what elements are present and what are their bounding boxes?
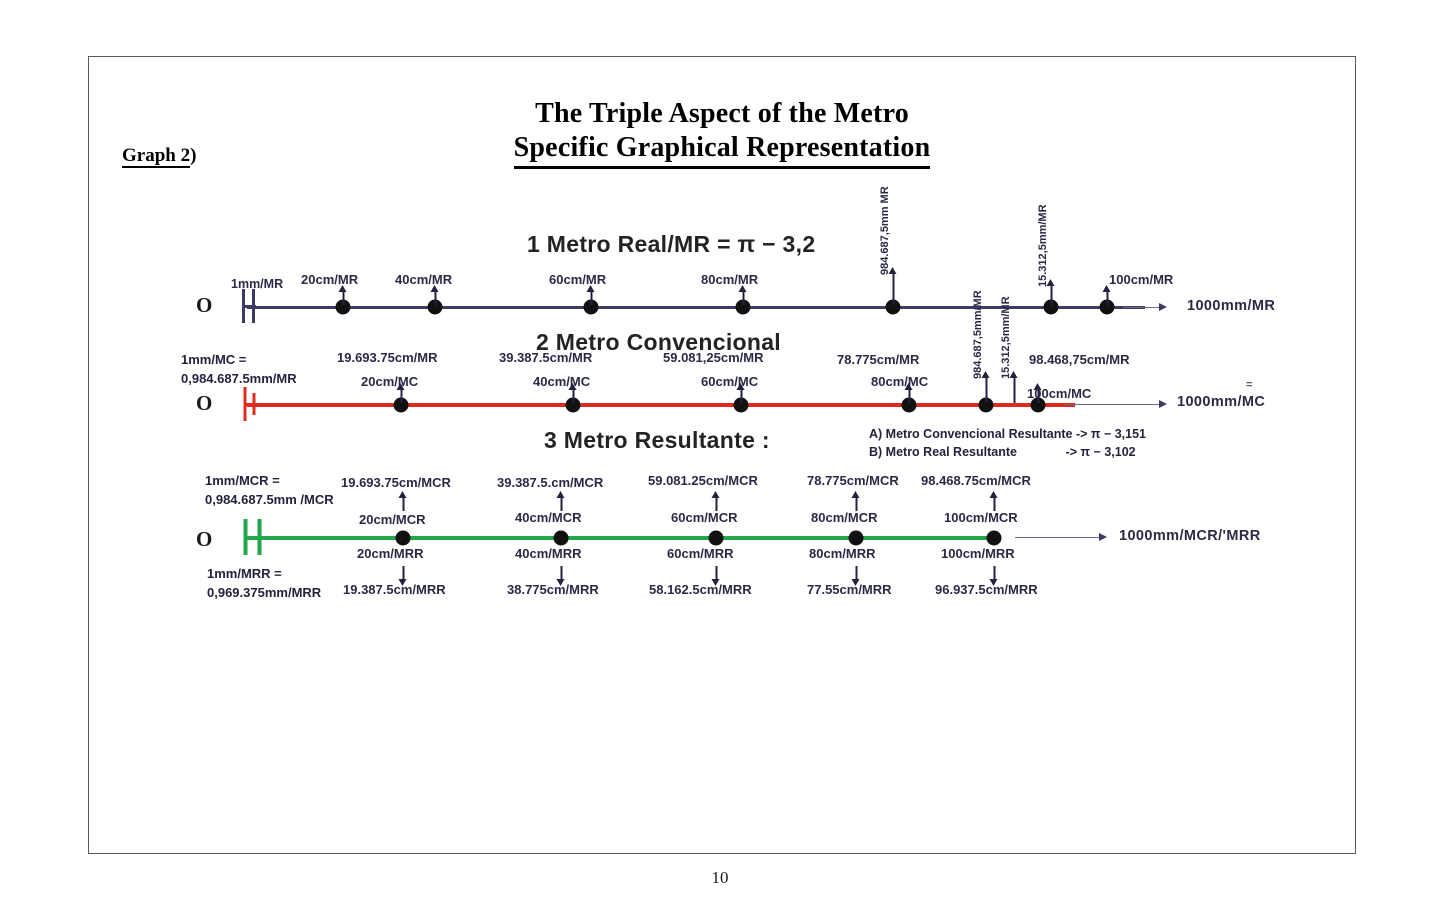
tick-label-mcr-top-1: 39.387.5.cm/MCR [497,475,603,490]
section-heading-metro-real: 1 Metro Real/MR = π − 3,2 [527,231,815,258]
tick-label-mcr-top-2: 59.081.25cm/MCR [648,473,758,488]
document-page: The Triple Aspect of the Metro Specific … [88,56,1356,854]
tick-arrow-mcr-20cm [399,491,408,511]
axis-end-arrow-mc [1065,400,1167,409]
vertical-label-mc-984687: 984.687,5mm/MR [972,290,984,379]
tick-arrow-mr-20cm [339,285,348,305]
tick-label-mcr-mid-2: 60cm/MCR [671,510,737,525]
data-point-mcr-20cm [396,531,411,546]
graph-label-tail: ) [190,145,196,166]
tick-arrow-mr-40cm [431,285,440,305]
tick-label-mcr-mid-4: 100cm/MCR [944,510,1018,525]
tick-label-mrr-val-4: 96.937.5cm/MRR [935,582,1038,597]
axis-line-metro-resultante [247,536,995,540]
tick-label-mc-bot-1: 40cm/MC [533,374,590,389]
data-point-mcr-60cm [709,531,724,546]
page-title: The Triple Aspect of the Metro Specific … [89,97,1355,169]
end-label-mcr: 1000mm/MCR/'MRR [1119,528,1261,544]
tick-label-mrr-3: 80cm/MRR [809,546,875,561]
data-point-mcr-100cm [987,531,1002,546]
graph-label-underlined: Graph 2 [122,145,190,168]
metro-resultante-notes: A) Metro Convencional Resultante -> π − … [869,425,1146,461]
tick-label-mcr-top-4: 98.468.75cm/MCR [921,473,1031,488]
tick-label-mc-bot-0: 20cm/MC [361,374,418,389]
tick-label-mr-2: 60cm/MR [549,272,606,287]
tick-label-mc-top-2: 59.081,25cm/MR [663,350,763,365]
section-heading-metro-resultante: 3 Metro Resultante : [544,427,770,454]
tick-label-mcr-mid-1: 40cm/MCR [515,510,581,525]
tick-arrow-mr-100cm [1103,285,1112,305]
tick-label-mc-top-0: 19.693.75cm/MR [337,350,437,365]
origin-note-mcr-bottom: 1mm/MRR = 0,969.375mm/MRR [207,565,321,603]
axis-end-arrow-mcr [1015,533,1107,542]
tick-label-mrr-2: 60cm/MRR [667,546,733,561]
title-line-2: Specific Graphical Representation [514,131,931,169]
end-label-mc: 1000mm/MC [1177,394,1265,410]
tick-label-mcr-top-3: 78.775cm/MCR [807,473,899,488]
tick-label-mrr-val-1: 38.775cm/MRR [507,582,599,597]
tick-arrow-mr-60cm [587,285,596,305]
vertical-label-mr-984687: 984.687,5mm MR [879,186,891,275]
origin-symbol-mc: O [196,391,212,416]
origin-symbol-mcr: O [196,527,212,552]
tick-label-mrr-4: 100cm/MRR [941,546,1015,561]
tick-label-mrr-val-3: 77.55cm/MRR [807,582,892,597]
tick-label-mcr-mid-0: 20cm/MCR [359,512,425,527]
tick-label-mrr-val-0: 19.387.5cm/MRR [343,582,446,597]
origin-note-mr: 1mm/MR [231,277,283,291]
tick-label-mc-bot-3: 80cm/MC [871,374,928,389]
axis-line-metro-convencional [247,403,1075,407]
end-label-mark-mc: = [1246,379,1252,391]
tick-label-mcr-top-0: 19.693.75cm/MCR [341,475,451,490]
data-point-mcr-40cm [554,531,569,546]
title-line-1: The Triple Aspect of the Metro [89,97,1355,131]
tick-label-mr-1: 40cm/MR [395,272,452,287]
data-point-mcr-80cm [849,531,864,546]
tick-label-mc-top-3: 78.775cm/MR [837,352,919,367]
tick-arrow-mcr-80cm [852,491,861,511]
origin-symbol-mr: O [196,293,212,318]
tick-arrow-mr-80cm [739,285,748,305]
origin-marker-mcr [244,519,263,555]
graph-label: Graph 2) [122,145,196,167]
page-number: 10 [0,868,1440,888]
axis-end-arrow-mr [1123,303,1167,312]
tick-arrow-mcr-40cm [557,491,566,511]
tick-arrow-mcr-60cm [712,491,721,511]
tick-label-mr-3: 80cm/MR [701,272,758,287]
tick-label-mc-bot-4: 100cm/MC [1027,386,1091,401]
tick-label-mc-top-1: 39.387.5cm/MR [499,350,592,365]
end-label-mr: 1000mm/MR [1187,298,1275,314]
tick-label-mcr-mid-3: 80cm/MCR [811,510,877,525]
tick-label-mrr-0: 20cm/MRR [357,546,423,561]
tick-label-mc-bot-2: 60cm/MC [701,374,758,389]
vertical-label-mc-15312: 15.312,5mm/MR [1000,296,1012,379]
tick-label-mr-0: 20cm/MR [301,272,358,287]
tick-label-mrr-val-2: 58.162.5cm/MRR [649,582,752,597]
origin-note-mc: 1mm/MC = 0,984.687.5mm/MR [181,351,297,389]
vertical-label-mr-15312: 15.312,5mm/MR [1037,204,1049,287]
origin-marker-mr [242,289,256,323]
tick-label-mrr-1: 40cm/MRR [515,546,581,561]
tick-label-mc-top-4: 98.468,75cm/MR [1029,352,1129,367]
tick-label-mr-4: 100cm/MR [1109,272,1173,287]
origin-marker-mc [244,387,257,421]
tick-arrow-mcr-100cm [990,491,999,511]
origin-note-mcr-top: 1mm/MCR = 0,984.687.5mm /MCR [205,472,334,510]
